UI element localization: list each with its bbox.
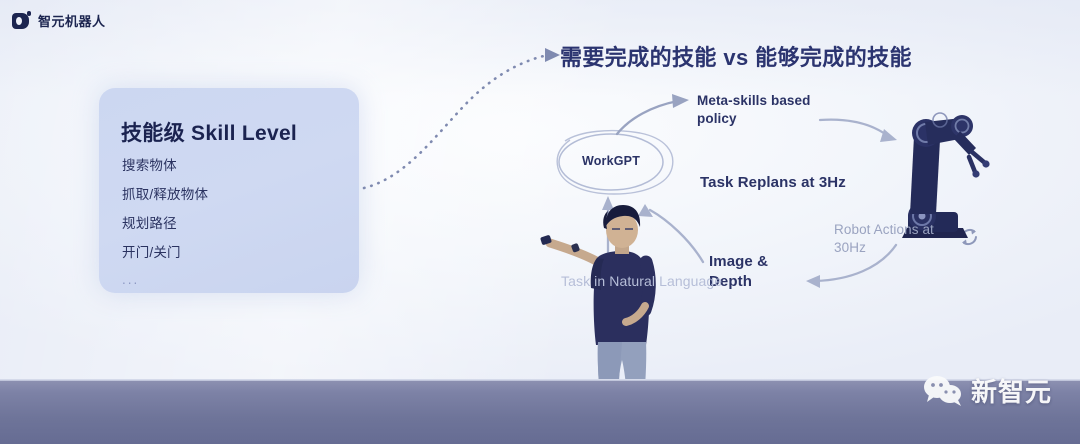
- label-line: Meta-skills based: [697, 92, 811, 110]
- label-task-replans: Task Replans at 3Hz: [700, 173, 846, 193]
- watermark: 新智元: [922, 372, 1052, 409]
- robot-arm-icon: [902, 113, 990, 238]
- stage-floor: [0, 381, 1080, 444]
- arrow-to-meta-skills: [617, 94, 689, 134]
- presentation-stage: 技能级 Skill Level 搜索物体 抓取/释放物体 规划路径 开门/关门 …: [0, 0, 1080, 444]
- watermark-text: 新智元: [971, 372, 1052, 409]
- workgpt-node-label: WorkGPT: [576, 154, 646, 168]
- brand-name: 智元机器人: [38, 11, 106, 30]
- arrow-image-depth-to-workgpt: [638, 204, 703, 262]
- cube-brand-icon: [12, 11, 31, 30]
- arrow-policy-to-robot: [820, 120, 897, 142]
- label-meta-skills-policy: Meta-skills based policy: [697, 92, 811, 128]
- label-task-natural-language: Task in Natural Language: [561, 272, 722, 290]
- label-robot-actions: Robot Actions at 30Hz: [834, 221, 934, 257]
- dotted-curved-arrow-icon: [364, 48, 560, 188]
- brand-logo: 智元机器人: [12, 11, 106, 30]
- label-line: Robot Actions at: [834, 221, 934, 239]
- label-line: Image &: [709, 252, 768, 272]
- wechat-icon: [922, 375, 964, 407]
- label-line: policy: [697, 110, 811, 128]
- label-line: 30Hz: [834, 239, 934, 257]
